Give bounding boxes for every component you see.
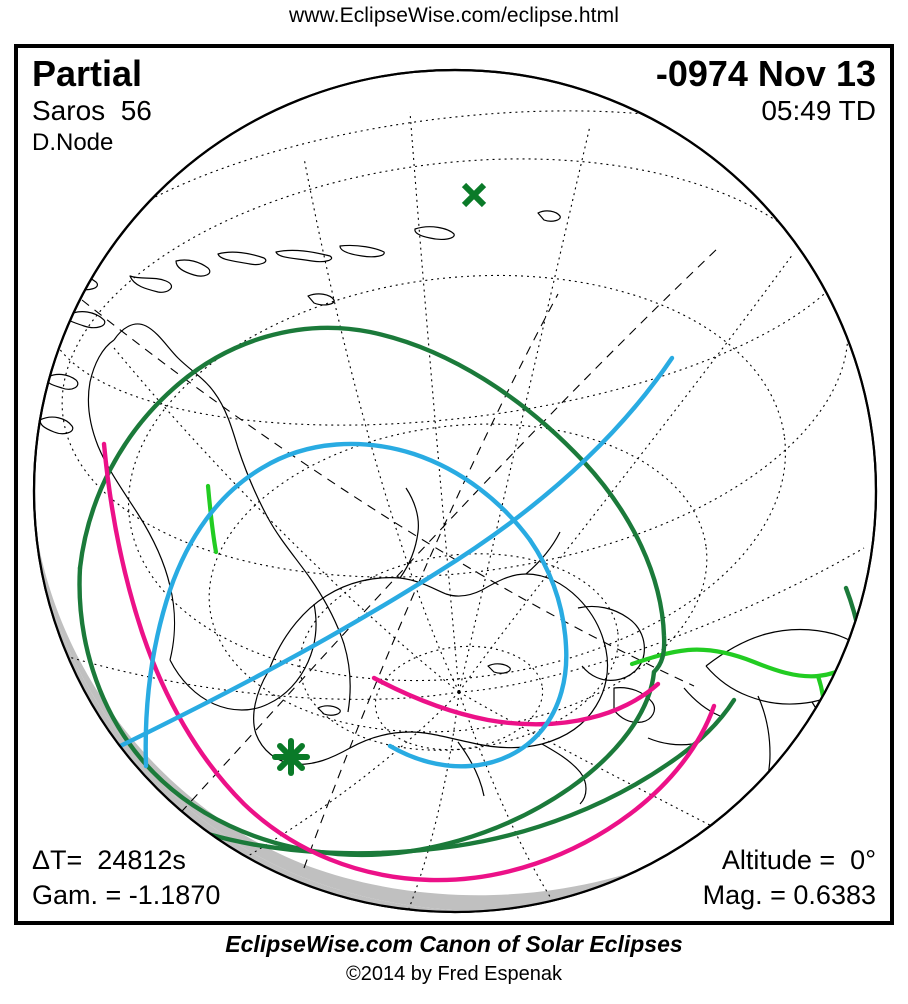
marker-greatest-eclipse-asterisk [275,741,307,773]
credit-title: EclipseWise.com Canon of Solar Eclipses [0,931,908,958]
eclipse-map-panel: Partial Saros 56 D.Node -0974 Nov 13 05:… [14,44,894,925]
altitude-value: Altitude = 0° [703,843,876,878]
credit-copyright: ©2014 by Fred Espenak [0,963,908,986]
eclipse-time: 05:49 TD [656,94,876,128]
eclipse-date: -0974 Nov 13 [656,54,876,94]
url-header: www.EclipseWise.com/eclipse.html [0,4,908,28]
magnitude-value: Mag. = 0.6383 [703,878,876,913]
stats-left-block: ΔT= 24812s Gam. = -1.1870 [32,843,220,913]
header-left-block: Partial Saros 56 D.Node [32,54,152,158]
header-right-block: -0974 Nov 13 05:49 TD [656,54,876,128]
globe-map [18,48,890,921]
delta-t-value: ΔT= 24812s [32,843,220,878]
saros-label: Saros 56 [32,94,152,128]
stats-right-block: Altitude = 0° Mag. = 0.6383 [703,843,876,913]
eclipse-map-page: www.EclipseWise.com/eclipse.html [0,0,908,1004]
eclipse-type-title: Partial [32,54,152,94]
gamma-value: Gam. = -1.1870 [32,878,220,913]
node-label: D.Node [32,128,152,158]
